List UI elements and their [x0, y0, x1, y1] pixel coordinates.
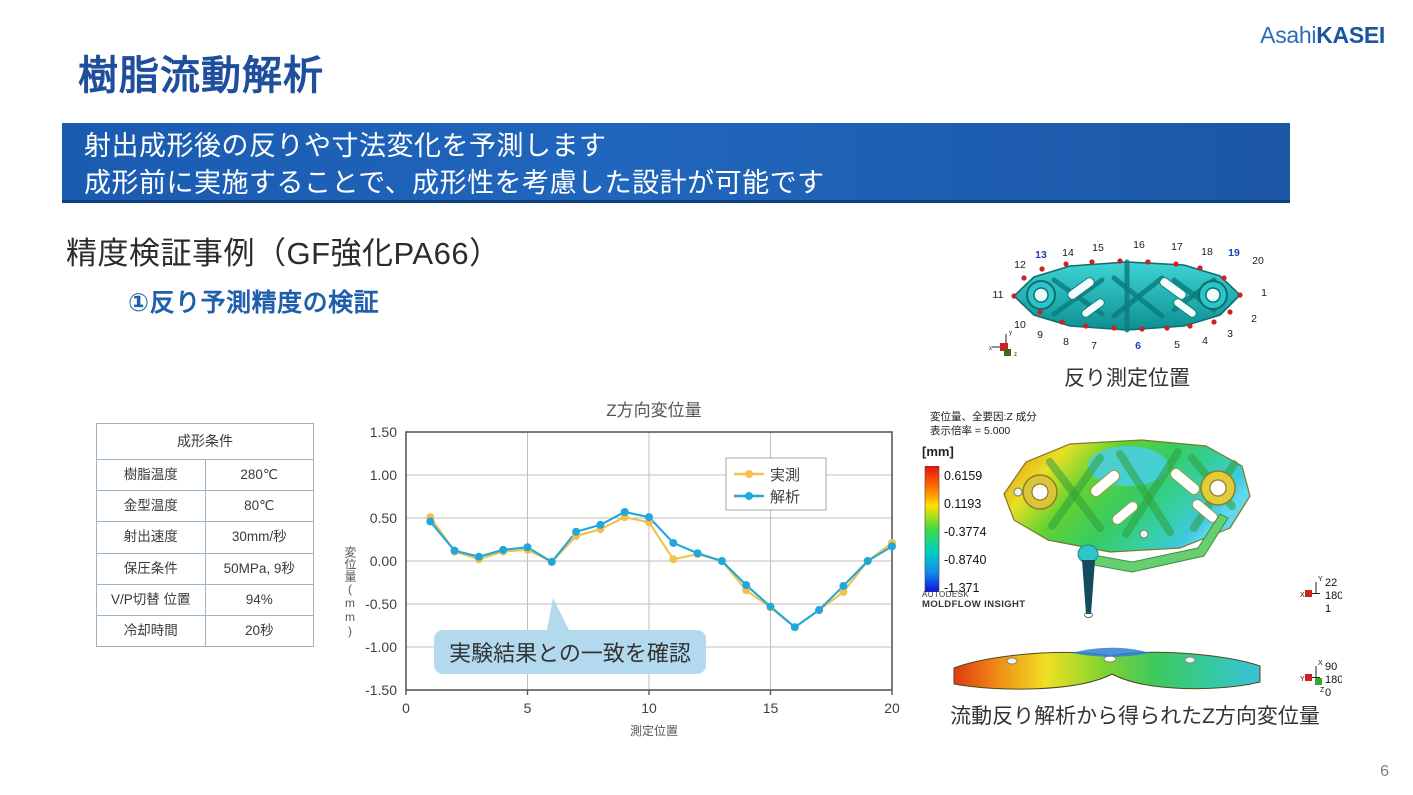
molding-conditions-table: 成形条件 樹脂温度 280℃ 金型温度 80℃ 射出速度 30mm/秒 保圧条件…	[96, 423, 314, 647]
svg-text:7: 7	[1091, 340, 1097, 352]
svg-text:90: 90	[1325, 661, 1337, 673]
svg-text:19: 19	[1228, 247, 1240, 259]
row-key: 金型温度	[97, 491, 206, 522]
sub-section-title: ①反り予測精度の検証	[128, 283, 379, 319]
svg-text:10: 10	[641, 700, 657, 716]
chart-x-axis-label-text: 測定位置	[630, 724, 678, 738]
table-row: 冷却時間 20秒	[97, 615, 314, 646]
moldflow-result: 変位量、全要因:Z 成分 表示倍率 = 5.000 [mm] 0.6159 0.…	[922, 404, 1342, 704]
svg-text:1.00: 1.00	[370, 467, 397, 483]
svg-text:20: 20	[884, 700, 900, 716]
logo-text-asahi: Asahi	[1260, 22, 1316, 48]
banner-line-1: 射出成形後の反りや寸法変化を予測します	[84, 128, 1290, 165]
svg-text:X: X	[1318, 660, 1323, 667]
chart-title: Z方向変位量	[348, 396, 904, 421]
svg-text:0.00: 0.00	[370, 553, 397, 569]
row-value: 80℃	[205, 491, 314, 522]
svg-text:0: 0	[402, 700, 410, 716]
table-header-cell: 成形条件	[97, 424, 314, 460]
svg-text:-1.50: -1.50	[365, 682, 397, 698]
table-row: 射出速度 30mm/秒	[97, 522, 314, 553]
displacement-chart: Z方向変位量 1.501.000.500.00-0.50-1.00-1.5005…	[348, 396, 904, 746]
svg-text:15: 15	[763, 700, 779, 716]
logo-text-kasei: KASEI	[1316, 22, 1385, 48]
row-value: 50MPa, 9秒	[205, 553, 314, 584]
svg-text:実験結果との一致を確認: 実験結果との一致を確認	[449, 641, 691, 666]
page-title: 樹脂流動解析	[78, 43, 324, 101]
svg-text:5: 5	[1174, 339, 1180, 351]
svg-text:8: 8	[1063, 336, 1069, 348]
svg-text:実測: 実測	[770, 467, 800, 484]
svg-text:x: x	[989, 346, 992, 352]
svg-text:Y: Y	[1318, 576, 1323, 583]
table-row: 樹脂温度 280℃	[97, 459, 314, 490]
page-number: 6	[1380, 763, 1389, 781]
svg-text:13: 13	[1035, 249, 1047, 261]
svg-text:5: 5	[524, 700, 532, 716]
svg-text:解析: 解析	[770, 489, 800, 506]
svg-text:-1.00: -1.00	[365, 639, 397, 655]
svg-text:18: 18	[1201, 246, 1213, 258]
svg-text:10: 10	[1014, 319, 1026, 331]
svg-text:4: 4	[1202, 335, 1208, 347]
svg-text:0.50: 0.50	[370, 510, 397, 526]
svg-text:3: 3	[1227, 328, 1233, 340]
table-header-row: 成形条件	[97, 424, 314, 460]
svg-text:0: 0	[1325, 687, 1331, 699]
row-value: 280℃	[205, 459, 314, 490]
chart-canvas: 1.501.000.500.00-0.50-1.00-1.5005101520実…	[348, 420, 904, 720]
table-row: 保圧条件 50MPa, 9秒	[97, 553, 314, 584]
row-key: 保圧条件	[97, 553, 206, 584]
svg-text:17: 17	[1171, 241, 1183, 253]
svg-text:-0.50: -0.50	[365, 596, 397, 612]
chart-y-axis-label: 変位量(mm)	[342, 546, 359, 638]
svg-text:180: 180	[1325, 590, 1342, 602]
warpage-model-graphic: 1213141516171819201098765432111xyz	[962, 232, 1292, 364]
svg-text:14: 14	[1062, 247, 1074, 259]
svg-text:Y: Y	[1300, 676, 1305, 683]
svg-text:1: 1	[1261, 287, 1267, 299]
row-value: 20秒	[205, 615, 314, 646]
highlight-banner: 射出成形後の反りや寸法変化を予測します 成形前に実施することで、成形性を考慮した…	[62, 123, 1290, 203]
table-row: 金型温度 80℃	[97, 491, 314, 522]
svg-text:15: 15	[1092, 242, 1104, 254]
svg-text:2: 2	[1251, 313, 1257, 325]
row-key: 射出速度	[97, 522, 206, 553]
svg-text:22: 22	[1325, 577, 1337, 589]
table-body: 成形条件 樹脂温度 280℃ 金型温度 80℃ 射出速度 30mm/秒 保圧条件…	[97, 424, 314, 647]
warpage-measure-model: 1213141516171819201098765432111xyz	[962, 232, 1292, 362]
table-row: V/P切替 位置 94%	[97, 584, 314, 615]
row-value: 94%	[205, 584, 314, 615]
section-title: 精度検証事例（GF強化PA66）	[66, 228, 501, 273]
asahi-kasei-logo: AsahiKASEI	[1260, 22, 1385, 49]
svg-text:1.50: 1.50	[370, 424, 397, 440]
svg-text:6: 6	[1135, 340, 1141, 352]
svg-text:z: z	[1014, 352, 1017, 358]
banner-line-2: 成形前に実施することで、成形性を考慮した設計が可能です	[84, 165, 1290, 202]
row-key: 樹脂温度	[97, 459, 206, 490]
chart-title-text: Z方向変位量	[606, 401, 701, 420]
svg-text:11: 11	[993, 289, 1004, 301]
svg-text:180: 180	[1325, 674, 1342, 686]
svg-text:20: 20	[1252, 255, 1264, 267]
row-value: 30mm/秒	[205, 522, 314, 553]
svg-text:16: 16	[1133, 239, 1145, 251]
svg-text:12: 12	[1014, 259, 1026, 271]
svg-text:y: y	[1009, 330, 1012, 336]
row-key: V/P切替 位置	[97, 584, 206, 615]
warpage-model-caption: 反り測定位置	[962, 362, 1292, 392]
chart-x-axis-label: 測定位置	[348, 722, 904, 739]
row-key: 冷却時間	[97, 615, 206, 646]
slide: AsahiKASEI 樹脂流動解析 射出成形後の反りや寸法変化を予測します 成形…	[0, 0, 1413, 795]
svg-text:1: 1	[1325, 603, 1331, 615]
svg-text:X: X	[1300, 592, 1305, 599]
svg-text:9: 9	[1037, 329, 1043, 341]
moldflow-part-graphic: YX221801XYZ901800	[922, 404, 1342, 704]
moldflow-caption: 流動反り解析から得られたZ方向変位量	[920, 700, 1350, 730]
